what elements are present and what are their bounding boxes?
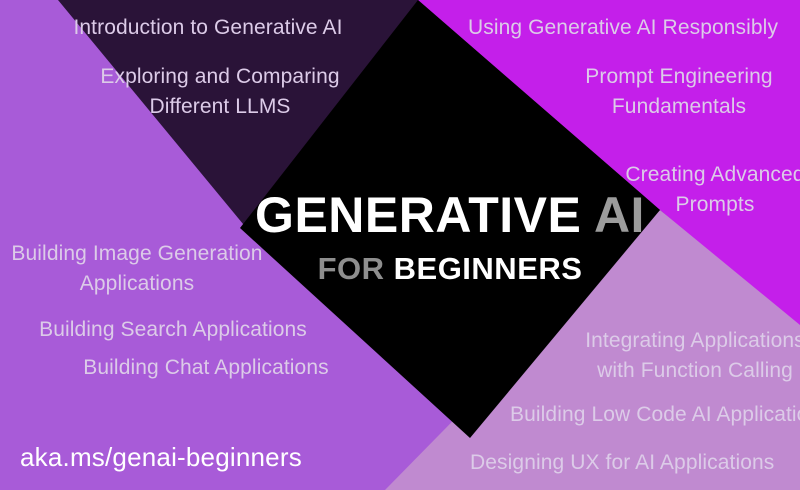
module-label-function-calling: Integrating Applications with Function C… [570, 326, 800, 386]
module-label-prompt-engineering: Prompt Engineering Fundamentals [560, 62, 798, 122]
main-title-word-generative: GENERATIVE [255, 187, 581, 243]
subtitle-word-beginners: BEGINNERS [394, 251, 583, 286]
generative-ai-banner: Introduction to Generative AI Exploring … [0, 0, 800, 490]
module-label-image-generation: Building Image Generation Applications [2, 239, 272, 299]
course-url: aka.ms/genai-beginners [20, 442, 302, 473]
main-title-word-ai: AI [594, 187, 645, 243]
subtitle-word-for: FOR [318, 251, 385, 286]
module-label-search-apps: Building Search Applications [20, 315, 326, 345]
title-block: GENERATIVE AI FOR BEGINNERS [250, 187, 650, 289]
module-label-chat-apps: Building Chat Applications [60, 353, 352, 383]
module-label-ux-design: Designing UX for AI Applications [470, 448, 800, 478]
module-label-low-code: Building Low Code AI Applications [510, 400, 800, 430]
subtitle: FOR BEGINNERS [250, 249, 650, 289]
module-label-responsible-ai: Using Generative AI Responsibly [462, 13, 784, 43]
module-label-introduction: Introduction to Generative AI [60, 13, 356, 43]
main-title: GENERATIVE AI [250, 187, 650, 243]
module-label-exploring-llms: Exploring and Comparing Different LLMS [92, 62, 348, 122]
